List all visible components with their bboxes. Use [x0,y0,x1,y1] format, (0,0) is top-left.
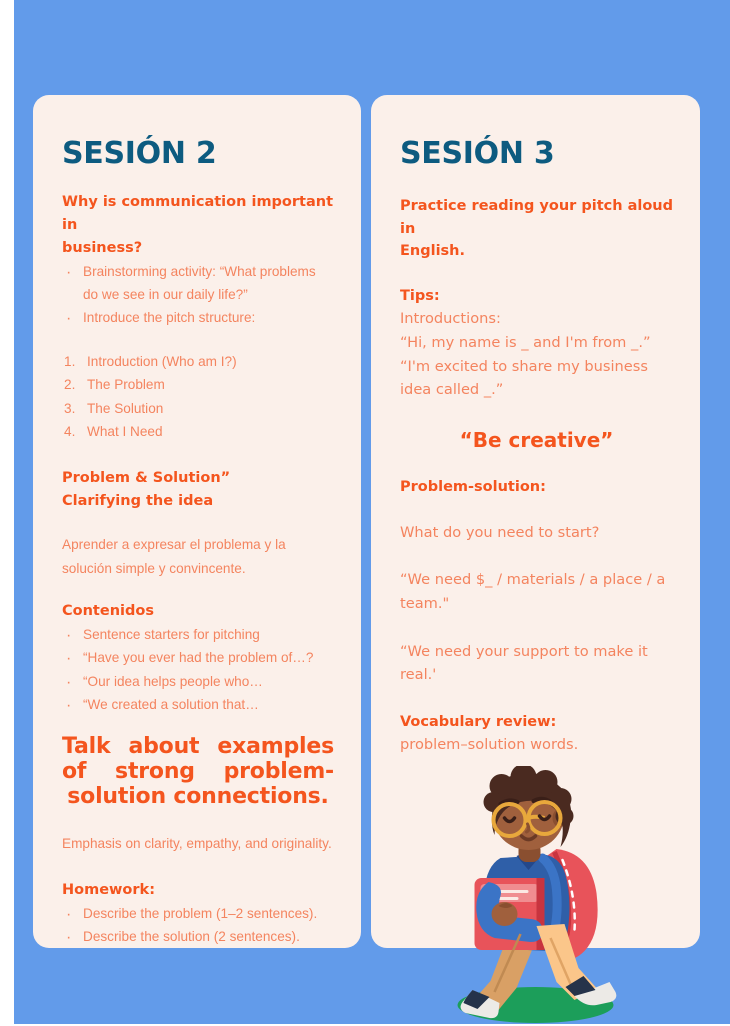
session-card-2: SESIÓN 2 Why is communication important … [33,95,361,948]
front-arm [476,882,542,942]
session-card-3: SESIÓN 3 Practice reading your pitch alo… [371,95,700,948]
list-item: “Have you ever had the problem of…? [62,646,334,669]
session-3-title: SESIÓN 3 [400,139,673,169]
eye-right [539,816,549,820]
session-2-call-to-action: Talk about examples of strong problem-so… [62,734,334,809]
session-2-spanish-objective: Aprender a expresar el problema y la sol… [62,533,334,580]
list-item: “We created a solution that… [62,693,334,716]
list-item: Sentence starters for pitching [62,623,334,646]
tips-heading: Tips: [400,285,673,308]
backpack [542,849,597,961]
list-item: “Our idea helps people who… [62,670,334,693]
list-item: The Problem [62,373,334,396]
jacket-torso [483,855,569,951]
book-line-1 [488,890,528,893]
eye-left [504,818,514,822]
vocabulary-review-body: problem–solution words. [400,733,673,757]
book-pages [480,884,538,902]
session-2-emphasis-note: Emphasis on clarity, empathy, and origin… [62,832,334,855]
homework-heading: Homework: [62,879,334,902]
session-2-question-heading: Why is communication important in busine… [62,191,334,260]
hair-curl-5 [555,807,573,825]
ear [552,809,566,827]
book-spine [536,878,544,950]
glasses-lens-right [528,802,560,834]
nose [526,824,528,832]
thumb [498,903,512,908]
book-line-2 [488,897,518,900]
start-question: What do you need to start? [400,521,673,545]
need-quote: “We need $_ / materials / a place / a te… [400,568,673,615]
intro-sentence-2: “I'm excited to share my business idea c… [400,355,673,402]
introductions-label: Introductions: [400,307,673,331]
hair-curl-6 [483,792,503,812]
hair-curl-2 [510,766,536,790]
list-item: Introduction (Who am I?) [62,350,334,373]
session-cards-container: SESIÓN 2 Why is communication important … [33,95,700,948]
jacket-collar [516,854,540,871]
intro-sentence-1: “Hi, my name is _ and I'm from _.” [400,331,673,355]
question-heading-line-2: business? [62,240,142,256]
mouth [521,836,535,840]
head [492,778,564,850]
session-2-top-bullets: Brainstorming activity: “What problems d… [62,260,334,330]
subheading-line-1: Problem & Solution” [62,470,230,486]
contenidos-list: Sentence starters for pitching “Have you… [62,623,334,717]
practice-heading-line-2: English. [400,243,465,259]
list-item: Describe the solution (2 sentences). [62,925,334,948]
session-2-subheading: Problem & Solution” Clarifying the idea [62,467,334,513]
glasses-bridge [525,817,544,819]
subheading-line-2: Clarifying the idea [62,493,213,509]
list-item: Brainstorming activity: “What problems d… [62,260,334,307]
eyebrow-right [533,799,550,802]
practice-heading-line-1: Practice reading your pitch aloud in [400,198,673,237]
backpack-stitching [562,860,574,930]
list-item: What I Need [62,420,334,443]
session-2-title: SESIÓN 2 [62,139,334,169]
homework-list: Describe the problem (1–2 sentences). De… [62,902,334,949]
hair-curl-4 [549,788,571,810]
list-item: The Solution [62,397,334,420]
backpack-strap [542,858,557,930]
list-item: Introduce the pitch structure: [62,306,334,329]
glasses-lens-left [493,804,525,836]
hair [491,773,571,847]
contenidos-heading: Contenidos [62,600,334,623]
list-item: Describe the problem (1–2 sentences). [62,902,334,925]
hand [491,902,517,926]
question-heading-line-1: Why is communication important in [62,194,333,233]
problem-solution-heading: Problem-solution: [400,476,673,499]
neck [518,842,540,862]
be-creative-quote: “Be creative” [400,428,673,452]
session-3-practice-heading: Practice reading your pitch aloud in Eng… [400,195,673,263]
backpack-trim [554,852,568,946]
poster-page: SESIÓN 2 Why is communication important … [0,0,730,1024]
hair-curl-3 [533,770,557,794]
vocabulary-review-heading: Vocabulary review: [400,711,673,734]
support-quote: “We need your support to make it real.' [400,640,673,687]
book [474,878,544,950]
hair-curl-1 [489,774,513,798]
eyebrow-left [500,800,517,804]
session-2-pitch-structure-list: Introduction (Who am I?) The Problem The… [62,350,334,444]
